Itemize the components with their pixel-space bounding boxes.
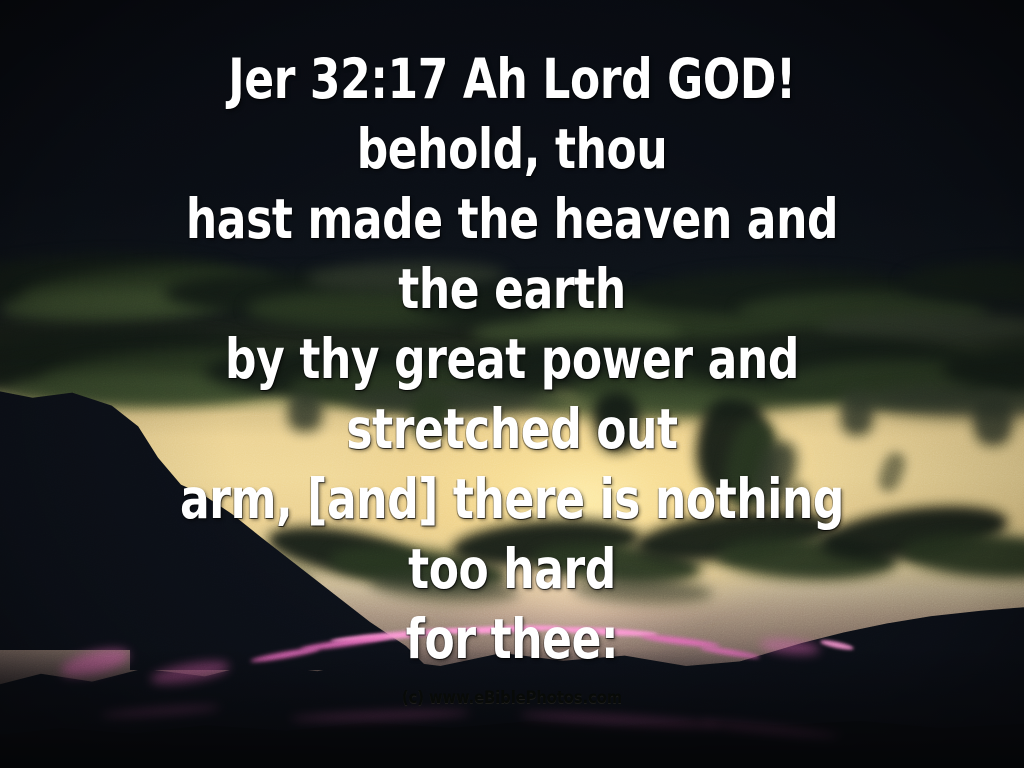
verse-photo-scene: Jer 32:17 Ah Lord GOD! behold, thou hast… xyxy=(0,0,1024,768)
verse-caption: Jer 32:17 Ah Lord GOD! behold, thou hast… xyxy=(102,44,921,674)
verse-line-4: arm, [and] there is nothing too hard xyxy=(147,464,877,604)
copyright-watermark: (c) www.eBiblePhotos.com xyxy=(72,688,953,708)
verse-line-1: Jer 32:17 Ah Lord GOD! behold, thou xyxy=(147,44,877,184)
verse-line-2: hast made the heaven and the earth xyxy=(147,184,877,324)
verse-line-3: by thy great power and stretched out xyxy=(147,324,877,464)
verse-line-5: for thee: xyxy=(147,604,877,674)
